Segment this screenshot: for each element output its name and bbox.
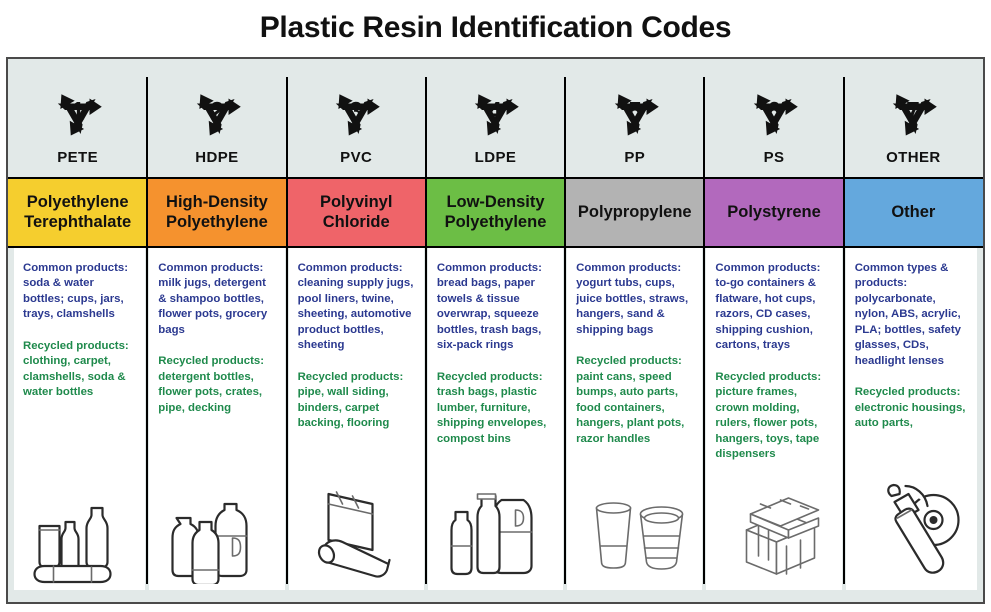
resin-abbreviation: PP [624,149,645,166]
resin-info-panel: Common types & products: polycarbonate, … [846,248,977,590]
recycled-products-label: Recycled products: [298,370,415,385]
recycled-products-block: Recycled products: paint cans, speed bum… [576,354,693,447]
svg-text:5: 5 [628,98,642,125]
common-products-label: Common products: [576,261,693,276]
common-products-block: Common products: milk jugs, detergent & … [158,261,275,338]
resin-name-band: Other [844,177,983,248]
infographic-page: Plastic Resin Identification Codes 1 PET… [0,0,991,612]
mobius-loop-icon: 4 [458,79,532,141]
resin-code-symbol: 6 [737,79,811,146]
symbol-zone-ps: 6 PS [704,59,843,177]
common-products-list: to-go containers & flatware, hot cups, r… [715,276,832,353]
recycled-products-block: Recycled products: clothing, carpet, cla… [23,339,136,401]
common-products-list: milk jugs, detergent & shampoo bottles, … [158,276,275,338]
mobius-loop-icon: 6 [737,79,811,141]
product-illustration [158,472,275,590]
resin-info-panel: Common products: soda & water bottles; c… [14,248,145,590]
jugs-group-illustration [165,474,268,584]
resin-code-symbol: 5 [598,79,672,146]
common-products-block: Common products: cleaning supply jugs, p… [298,261,415,354]
mobius-loop-icon: 1 [41,79,115,141]
cups-pot-illustration [583,474,686,584]
symbol-zone-pp: 5 PP [565,59,704,177]
block-spacer [855,369,968,385]
mobius-loop-icon: 7 [876,79,950,141]
resin-abbreviation: LDPE [475,149,517,166]
resin-info-panel: Common products: to-go containers & flat… [706,248,841,590]
recycled-products-label: Recycled products: [715,370,832,385]
product-illustration [715,472,832,590]
resin-code-symbol: 1 [41,79,115,146]
recycled-products-list: trash bags, plastic lumber, furniture, s… [437,385,554,447]
block-spacer [715,354,832,370]
svg-text:3: 3 [349,98,363,125]
svg-text:1: 1 [71,98,85,125]
clamshell-illustration [723,474,826,584]
bottle-cd-illustration [860,474,963,584]
resin-column-pete: 1 PETE Polyethylene Terephthalate Common… [8,59,147,602]
product-illustration [576,472,693,590]
resin-name-band: Polystyrene [704,177,843,248]
resin-column-hdpe: 2 HDPE High-Density Polyethylene Common … [147,59,286,602]
recycled-products-list: detergent bottles, flower pots, crates, … [158,370,275,416]
product-illustration [298,472,415,590]
recycled-products-label: Recycled products: [23,339,136,354]
resin-column-ps: 6 PS Polystyrene Common products: to-go … [704,59,843,602]
recycled-products-block: Recycled products: electronic housings, … [855,385,968,431]
block-spacer [298,354,415,370]
resin-name-band: Polyvinyl Chloride [287,177,426,248]
svg-text:2: 2 [210,98,224,125]
common-products-label: Common products: [298,261,415,276]
symbol-zone-pete: 1 PETE [8,59,147,177]
recycled-products-block: Recycled products: picture frames, crown… [715,370,832,463]
resin-name-label: Polystyrene [727,203,821,222]
mobius-loop-icon: 2 [180,79,254,141]
symbol-zone-other: 7 OTHER [844,59,983,177]
symbol-zone-hdpe: 2 HDPE [147,59,286,177]
resin-name-label: Polyethylene Terephthalate [13,193,142,232]
recycled-products-block: Recycled products: detergent bottles, fl… [158,354,275,416]
resin-abbreviation: OTHER [886,149,941,166]
svg-text:7: 7 [907,98,921,125]
common-products-list: cleaning supply jugs, pool liners, twine… [298,276,415,353]
common-products-label: Common products: [23,261,136,276]
product-illustration [23,472,136,590]
resin-column-other: 7 OTHER Other Common types & products: p… [844,59,983,602]
common-products-block: Common types & products: polycarbonate, … [855,261,968,369]
page-title: Plastic Resin Identification Codes [0,0,991,56]
block-spacer [437,354,554,370]
resin-abbreviation: HDPE [195,149,238,166]
resin-abbreviation: PS [764,149,785,166]
resin-code-symbol: 2 [180,79,254,146]
recycled-products-list: clothing, carpet, clamshells, soda & wat… [23,354,136,400]
common-products-list: yogurt tubs, cups, juice bottles, straws… [576,276,693,338]
resin-info-panel: Common products: milk jugs, detergent & … [149,248,284,590]
sheeting-roll-illustration [305,474,408,584]
resin-name-band: High-Density Polyethylene [147,177,286,248]
common-products-list: polycarbonate, nylon, ABS, acrylic, PLA;… [855,292,968,369]
resin-info-panel: Common products: bread bags, paper towel… [428,248,563,590]
recycled-products-block: Recycled products: pipe, wall siding, bi… [298,370,415,432]
common-products-block: Common products: to-go containers & flat… [715,261,832,354]
recycled-products-list: picture frames, crown molding, rulers, f… [715,385,832,462]
block-spacer [576,338,693,354]
recycled-products-label: Recycled products: [437,370,554,385]
bottles-group-illustration [28,474,131,584]
common-products-label: Common products: [715,261,832,276]
resin-name-band: Low-Density Polyethylene [426,177,565,248]
resin-info-panel: Common products: cleaning supply jugs, p… [289,248,424,590]
symbol-zone-ldpe: 4 LDPE [426,59,565,177]
recycled-products-list: pipe, wall siding, binders, carpet backi… [298,385,415,431]
svg-text:6: 6 [767,98,781,125]
common-products-block: Common products: bread bags, paper towel… [437,261,554,354]
product-illustration [437,472,554,590]
common-products-list: soda & water bottles; cups, jars, trays,… [23,276,136,322]
product-illustration [855,472,968,590]
common-products-label: Common products: [437,261,554,276]
squeeze-bottles-illustration [444,474,547,584]
svg-text:4: 4 [489,98,503,125]
common-products-list: bread bags, paper towels & tissue overwr… [437,276,554,353]
recycled-products-block: Recycled products: trash bags, plastic l… [437,370,554,447]
common-products-block: Common products: soda & water bottles; c… [23,261,136,323]
mobius-loop-icon: 5 [598,79,672,141]
resin-name-band: Polypropylene [565,177,704,248]
resin-name-label: Other [891,203,935,222]
resin-columns: 1 PETE Polyethylene Terephthalate Common… [8,59,983,602]
resin-name-label: Low-Density Polyethylene [431,193,560,232]
resin-code-symbol: 3 [319,79,393,146]
common-products-label: Common types & products: [855,261,968,292]
resin-code-symbol: 4 [458,79,532,146]
recycled-products-label: Recycled products: [158,354,275,369]
recycled-products-list: electronic housings, auto parts, [855,401,968,432]
resin-column-pvc: 3 PVC Polyvinyl Chloride Common products… [287,59,426,602]
recycled-products-label: Recycled products: [576,354,693,369]
resin-name-label: Polypropylene [578,203,692,222]
resin-code-symbol: 7 [876,79,950,146]
resin-abbreviation: PVC [340,149,372,166]
common-products-block: Common products: yogurt tubs, cups, juic… [576,261,693,338]
resin-column-ldpe: 4 LDPE Low-Density Polyethylene Common p… [426,59,565,602]
symbol-zone-pvc: 3 PVC [287,59,426,177]
resin-name-label: Polyvinyl Chloride [292,193,421,232]
resin-column-pp: 5 PP Polypropylene Common products: yogu… [565,59,704,602]
resin-abbreviation: PETE [57,149,98,166]
codes-table-frame: 1 PETE Polyethylene Terephthalate Common… [6,57,985,604]
block-spacer [23,323,136,339]
block-spacer [158,338,275,354]
resin-info-panel: Common products: yogurt tubs, cups, juic… [567,248,702,590]
common-products-label: Common products: [158,261,275,276]
resin-name-label: High-Density Polyethylene [152,193,281,232]
resin-name-band: Polyethylene Terephthalate [8,177,147,248]
recycled-products-label: Recycled products: [855,385,968,400]
recycled-products-list: paint cans, speed bumps, auto parts, foo… [576,370,693,447]
mobius-loop-icon: 3 [319,79,393,141]
